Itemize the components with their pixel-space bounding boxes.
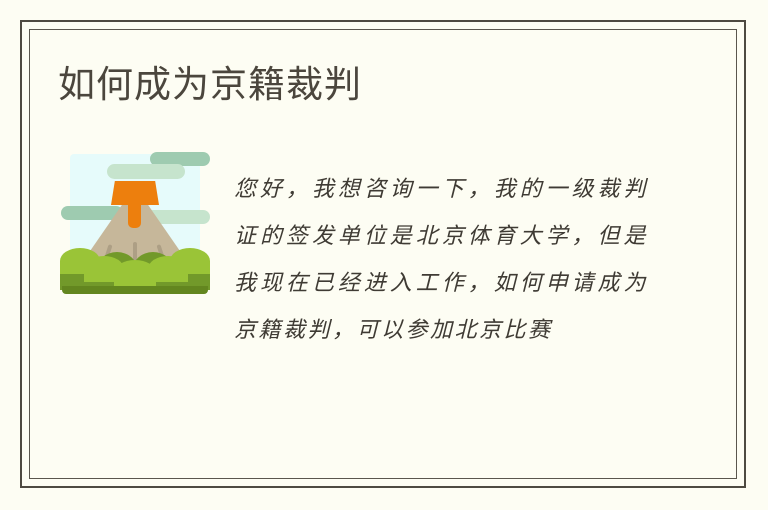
bush-shape — [170, 248, 210, 274]
ground-strip — [62, 286, 208, 294]
page-title: 如何成为京籍裁判 — [58, 62, 362, 108]
volcano-illustration — [62, 148, 208, 296]
page-root: 如何成为京籍裁判 您好，我想咨询一下，我的一级裁判证的签发单位是北京体育大学，但… — [0, 0, 768, 510]
article-body-text: 您好，我想咨询一下，我的一级裁判证的签发单位是北京体育大学，但是我现在已经进入工… — [234, 166, 648, 354]
cloud-icon — [107, 164, 185, 179]
lava-flow — [128, 198, 141, 228]
